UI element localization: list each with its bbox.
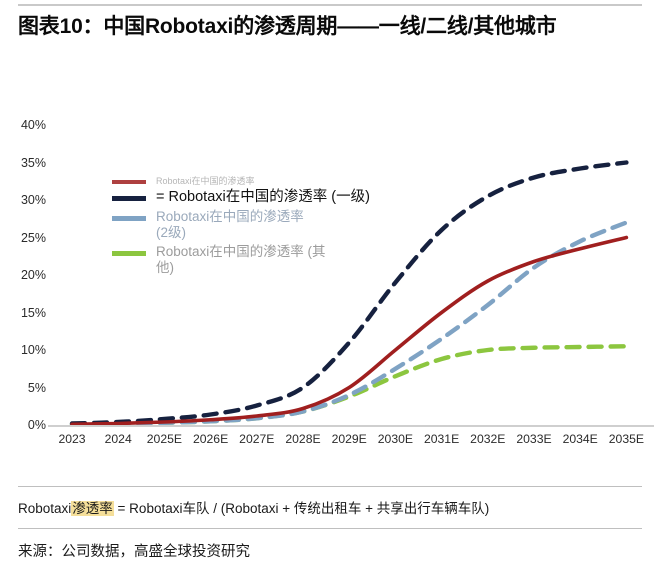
footnote-divider-top	[18, 486, 642, 487]
x-axis-tick: 2030E	[378, 432, 413, 446]
x-axis-tick: 2027E	[239, 432, 274, 446]
footnote-suffix: = Robotaxi车队 / (Robotaxi + 传统出租车 + 共享出行车…	[114, 501, 489, 516]
x-axis-tick: 2026E	[193, 432, 228, 446]
legend-item[interactable]: Robotaxi在中国的渗透率 (2级)	[112, 209, 412, 242]
chart-legend: Robotaxi在中国的渗透率= Robotaxi在中国的渗透率 (一级)Rob…	[112, 176, 412, 279]
legend-label: Robotaxi在中国的渗透率 (其他)	[156, 244, 336, 277]
x-axis: 202320242025E2026E2027E2028E2029E2030E20…	[0, 430, 660, 454]
x-axis-tick: 2024	[105, 432, 132, 446]
legend-item[interactable]: Robotaxi在中国的渗透率	[112, 176, 412, 187]
legend-label: Robotaxi在中国的渗透率	[156, 176, 255, 187]
x-axis-tick: 2023	[58, 432, 85, 446]
legend-swatch-icon	[112, 180, 146, 184]
footnote-highlight: 渗透率	[71, 501, 114, 516]
x-axis-tick: 2033E	[516, 432, 551, 446]
x-axis-tick: 2025E	[147, 432, 182, 446]
top-divider	[18, 4, 642, 6]
page-title: 图表10：中国Robotaxi的渗透周期——一线/二线/其他城市	[18, 14, 632, 41]
x-axis-tick: 2031E	[424, 432, 459, 446]
legend-item[interactable]: = Robotaxi在中国的渗透率 (一级)	[112, 189, 412, 207]
x-axis-tick: 2029E	[332, 432, 367, 446]
legend-item[interactable]: Robotaxi在中国的渗透率 (其他)	[112, 244, 412, 277]
chart-series-line	[72, 346, 626, 424]
legend-swatch-icon	[112, 216, 146, 221]
footnote-definition: Robotaxi渗透率 = Robotaxi车队 / (Robotaxi + 传…	[18, 500, 642, 519]
footnote-divider-bottom	[18, 528, 642, 529]
legend-label: Robotaxi在中国的渗透率 (2级)	[156, 209, 316, 242]
x-axis-tick: 2032E	[470, 432, 505, 446]
x-axis-tick: 2028E	[285, 432, 320, 446]
x-axis-line	[48, 425, 654, 427]
x-axis-tick: 2035E	[609, 432, 644, 446]
x-axis-tick: 2034E	[563, 432, 598, 446]
legend-swatch-icon	[112, 196, 146, 201]
legend-swatch-icon	[112, 251, 146, 256]
footnote-prefix: Robotaxi	[18, 501, 71, 516]
source-note: 来源：公司数据，高盛全球投资研究	[18, 540, 642, 561]
legend-label: = Robotaxi在中国的渗透率 (一级)	[156, 189, 370, 207]
